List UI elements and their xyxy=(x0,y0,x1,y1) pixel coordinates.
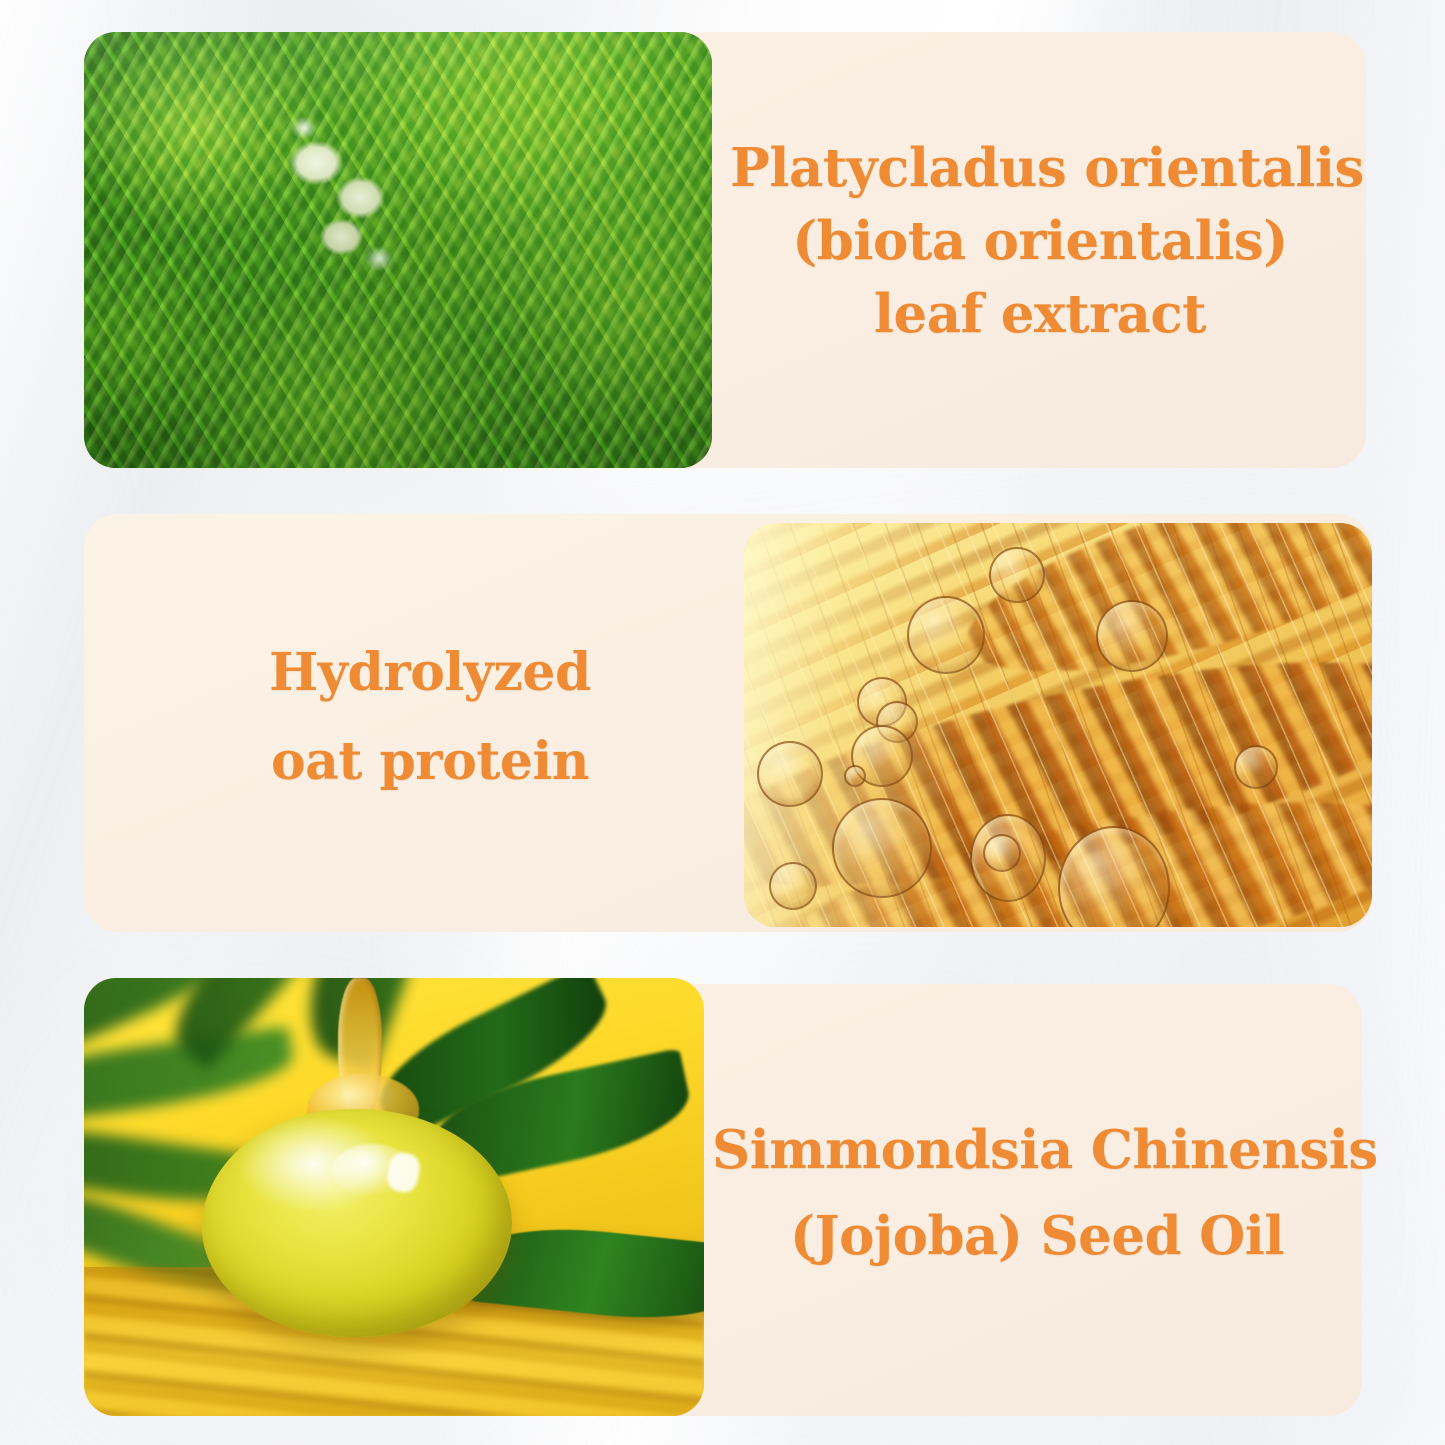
panel-platycladus-text: Platycladus orientalis (biota orientalis… xyxy=(730,132,1350,351)
infographic-stage: Platycladus orientalis (biota orientalis… xyxy=(0,0,1445,1445)
panel-oat-protein-text: Hydrolyzed oat protein xyxy=(150,628,710,807)
jojoba-seed-with-oil-drizzle-photo xyxy=(84,978,704,1416)
ingredient-name-line: (biota orientalis) xyxy=(730,205,1350,278)
ingredient-name-line: leaf extract xyxy=(730,278,1350,351)
ingredient-name-line: Hydrolyzed xyxy=(150,628,710,717)
ingredient-name-line: Simmondsia Chinensis xyxy=(712,1108,1362,1194)
ingredient-name-line: (Jojoba) Seed Oil xyxy=(712,1194,1362,1280)
ingredient-name-line: oat protein xyxy=(150,717,710,806)
ingredient-name-line: Platycladus orientalis xyxy=(730,132,1350,205)
panel-jojoba-text: Simmondsia Chinensis (Jojoba) Seed Oil xyxy=(712,1108,1362,1280)
platycladus-orientalis-foliage-photo xyxy=(84,32,712,468)
golden-wheat-oat-with-oil-bubbles-photo xyxy=(744,523,1372,927)
